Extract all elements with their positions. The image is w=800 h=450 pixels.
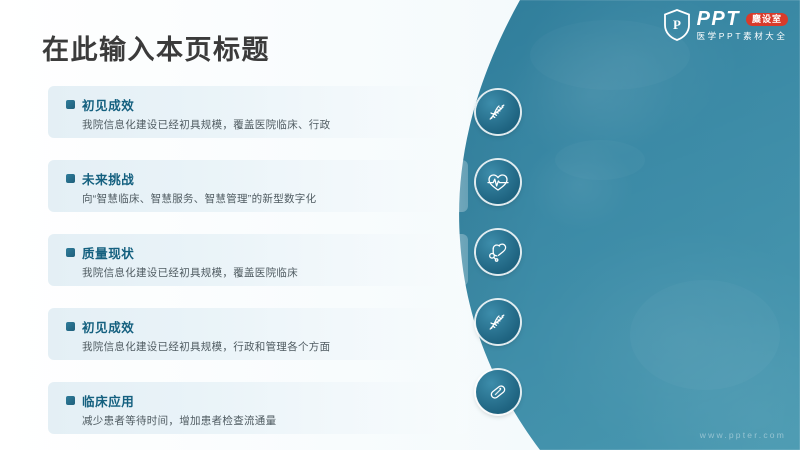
square-bullet-icon [66, 322, 75, 331]
content-row[interactable]: 初见成效 我院信息化建设已经初具规模，行政和管理各个方面 [48, 308, 468, 360]
content-row[interactable]: 初见成效 我院信息化建设已经初具规模，覆盖医院临床、行政 [48, 86, 468, 138]
content-row-header: 临床应用 [66, 391, 468, 410]
logo-badge: 麋设室 [746, 13, 788, 26]
content-row-description: 我院信息化建设已经初具规模，覆盖医院临床、行政 [82, 117, 468, 132]
stethoscope-heart-icon [485, 239, 511, 265]
content-row-header: 未来挑战 [66, 169, 468, 188]
content-row-description: 减少患者等待时间，增加患者检查流通量 [82, 413, 468, 428]
page-title: 在此输入本页标题 [42, 28, 270, 67]
content-row-description: 我院信息化建设已经初具规模，覆盖医院临床 [82, 265, 468, 280]
dna-icon-badge[interactable] [476, 90, 520, 134]
watermark-url: www.ppter.com [700, 430, 786, 440]
content-row-list: 初见成效 我院信息化建设已经初具规模，覆盖医院临床、行政 未来挑战 向“智慧临床… [48, 86, 468, 450]
content-row-description: 向“智慧临床、智慧服务、智慧管理”的新型数字化 [82, 191, 468, 206]
content-row-header: 初见成效 [66, 317, 468, 336]
brand-logo[interactable]: P PPT 麋设室 医学PPT素材大全 [663, 9, 788, 41]
content-row[interactable]: 质量现状 我院信息化建设已经初具规模，覆盖医院临床 [48, 234, 468, 286]
capsule-icon-badge[interactable] [476, 370, 520, 414]
square-bullet-icon [66, 396, 75, 405]
logo-text-group: PPT 麋设室 医学PPT素材大全 [697, 9, 788, 41]
dna-icon-badge[interactable] [476, 300, 520, 344]
content-row-title: 初见成效 [82, 317, 134, 336]
heartbeat-icon [485, 169, 511, 195]
content-row-header: 初见成效 [66, 95, 468, 114]
content-row-header: 质量现状 [66, 243, 468, 262]
dna-icon [486, 310, 510, 334]
content-row-title: 初见成效 [82, 95, 134, 114]
logo-wordmark: PPT [697, 9, 740, 29]
shield-letter: P [673, 17, 681, 32]
content-row-title: 未来挑战 [82, 169, 134, 188]
content-row-description: 我院信息化建设已经初具规模，行政和管理各个方面 [82, 339, 468, 354]
square-bullet-icon [66, 174, 75, 183]
square-bullet-icon [66, 100, 75, 109]
slide-canvas: 在此输入本页标题 初见成效 我院信息化建设已经初具规模，覆盖医院临床、行政 未来… [0, 0, 800, 450]
icon-column [476, 90, 536, 440]
heartbeat-icon-badge[interactable] [476, 160, 520, 204]
content-row-title: 质量现状 [82, 243, 134, 262]
content-row[interactable]: 临床应用 减少患者等待时间，增加患者检查流通量 [48, 382, 468, 434]
shield-icon: P [663, 9, 691, 41]
capsule-icon [485, 379, 511, 405]
square-bullet-icon [66, 248, 75, 257]
logo-top-line: PPT 麋设室 [697, 9, 788, 29]
content-row[interactable]: 未来挑战 向“智慧临床、智慧服务、智慧管理”的新型数字化 [48, 160, 468, 212]
dna-icon [486, 100, 510, 124]
logo-subtitle: 医学PPT素材大全 [697, 32, 788, 41]
stethoscope-heart-icon-badge[interactable] [476, 230, 520, 274]
content-row-title: 临床应用 [82, 391, 134, 410]
